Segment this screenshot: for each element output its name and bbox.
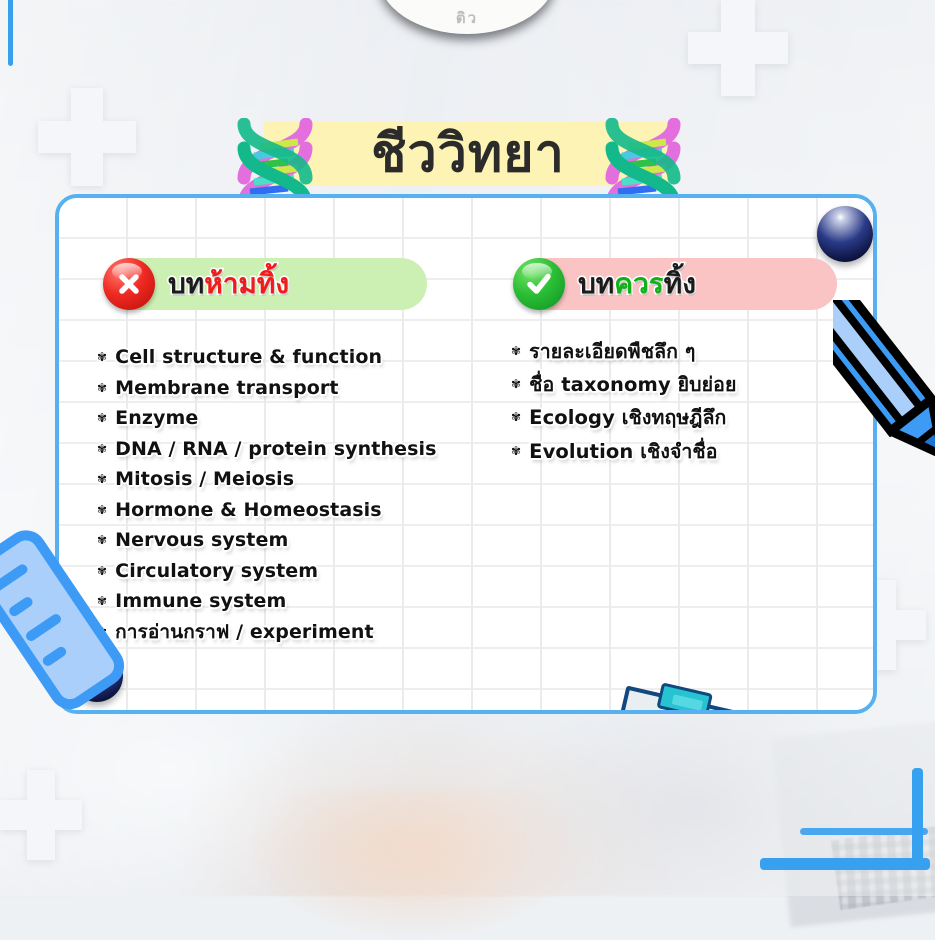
list-item: ✾Membrane transport [97, 377, 497, 401]
list-item: ✾ชื่อ taxonomy ยิบย่อย [511, 373, 841, 397]
white-cross-shape [0, 770, 82, 860]
bullet-icon: ✾ [511, 440, 521, 463]
list-item-label: Evolution เชิงจำชื่อ [529, 440, 717, 464]
bullet-icon: ✾ [511, 340, 521, 363]
blue-corner-bracket-v [912, 768, 923, 862]
list-item: ✾Enzyme [97, 407, 497, 431]
top-badge-label: ติว [378, 6, 556, 30]
list-item-label: Ecology เชิงทฤษฎีลึก [529, 406, 726, 430]
header-can-drop: บทควรทิ้ง [517, 258, 837, 310]
white-cross-shape [688, 0, 788, 96]
list-item: ✾การอ่านกราฟ / experiment [97, 621, 497, 645]
blue-corner-bracket-h2 [800, 828, 928, 835]
blue-pencil-icon [833, 300, 935, 490]
bullet-icon: ✾ [97, 346, 107, 369]
bullet-icon: ✾ [511, 373, 521, 396]
header-right-highlight: ควร [614, 267, 664, 300]
list-item: ✾Evolution เชิงจำชื่อ [511, 440, 841, 464]
bullet-icon: ✾ [97, 468, 107, 491]
white-cross-shape [38, 88, 136, 186]
list-item: ✾รายละเอียดพืชลึก ๆ [511, 340, 841, 364]
list-item: ✾Ecology เชิงทฤษฎีลึก [511, 406, 841, 430]
list-item: ✾Cell structure & function [97, 346, 497, 370]
blue-edge-line-top-left [8, 0, 13, 66]
list-item-label: Circulatory system [115, 560, 318, 584]
header-must-keep: บทห้ามทิ้ง [107, 258, 427, 310]
content-card: บทห้ามทิ้ง บทควรทิ้ง ✾Cell structure & f… [55, 194, 877, 714]
list-item-label: Nervous system [115, 529, 288, 553]
header-must-keep-label: บทห้ามทิ้ง [168, 270, 289, 298]
header-can-drop-label: บทควรทิ้ง [578, 270, 696, 298]
list-item-label: Enzyme [115, 407, 198, 431]
navy-sphere-icon [817, 206, 873, 262]
bullet-icon: ✾ [511, 406, 521, 429]
top-circle-badge: ติว [378, 0, 556, 34]
list-can-drop: ✾รายละเอียดพืชลึก ๆ ✾ชื่อ taxonomy ยิบย่… [511, 340, 841, 473]
list-item: ✾DNA / RNA / protein synthesis [97, 438, 497, 462]
list-item: ✾Mitosis / Meiosis [97, 468, 497, 492]
header-right-suffix: ทิ้ง [664, 267, 696, 300]
list-item: ✾Immune system [97, 590, 497, 614]
header-left-highlight: ห้ามทิ้ง [204, 267, 289, 300]
header-left-prefix: บท [168, 267, 204, 300]
list-must-keep: ✾Cell structure & function ✾Membrane tra… [97, 346, 497, 651]
list-item-label: Immune system [115, 590, 286, 614]
bullet-icon: ✾ [97, 407, 107, 430]
header-right-prefix: บท [578, 267, 614, 300]
red-x-circle-icon [103, 258, 155, 310]
green-check-circle-icon [513, 258, 565, 310]
list-item-label: DNA / RNA / protein synthesis [115, 438, 436, 462]
list-item-label: Hormone & Homeostasis [115, 499, 382, 523]
list-item: ✾Hormone & Homeostasis [97, 499, 497, 523]
bullet-icon: ✾ [97, 377, 107, 400]
blue-corner-bracket-h [760, 858, 930, 870]
list-item: ✾Nervous system [97, 529, 497, 553]
list-item-label: การอ่านกราฟ / experiment [115, 621, 374, 645]
list-item-label: Membrane transport [115, 377, 338, 401]
list-item-label: Cell structure & function [115, 346, 382, 370]
list-item-label: รายละเอียดพืชลึก ๆ [529, 340, 695, 364]
blue-ruler-icon [0, 510, 132, 710]
bullet-icon: ✾ [97, 438, 107, 461]
list-item-label: ชื่อ taxonomy ยิบย่อย [529, 373, 736, 397]
list-item-label: Mitosis / Meiosis [115, 468, 294, 492]
list-item: ✾Circulatory system [97, 560, 497, 584]
